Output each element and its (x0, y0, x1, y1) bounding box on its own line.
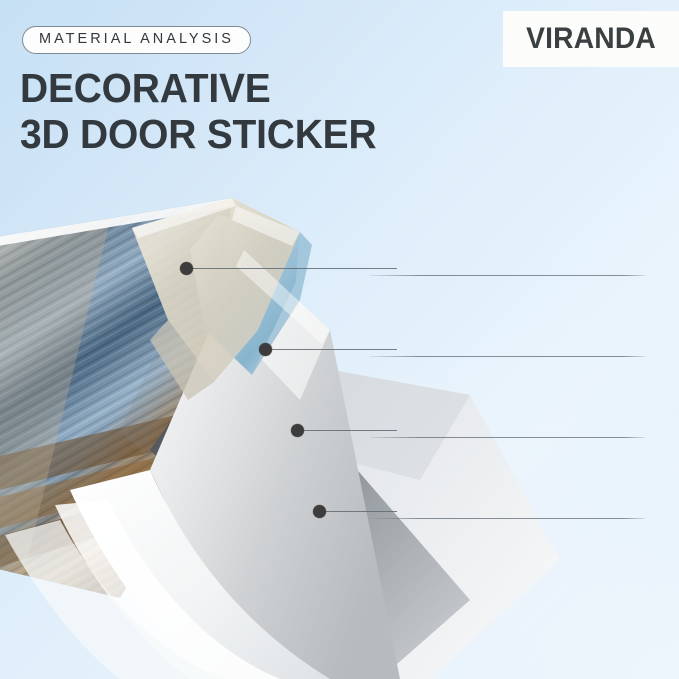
callout-3-rule (370, 437, 645, 438)
callout-2-rule (370, 356, 645, 357)
callout-1-rule (370, 275, 645, 276)
callout-4-rule (370, 518, 645, 519)
callout-4-dot (313, 505, 326, 518)
callout-2-leader (271, 349, 397, 350)
callout-3-leader (303, 430, 397, 431)
eyebrow-badge: MATERIAL ANALYSIS (22, 26, 251, 54)
callout-4-leader (325, 511, 397, 512)
callout-3-dot (291, 424, 304, 437)
callout-1-leader (192, 268, 397, 269)
callout-2-dot (259, 343, 272, 356)
poster: MATERIAL ANALYSIS DECORATIVE 3D DOOR STI… (0, 0, 679, 679)
page-title-line-1: DECORATIVE (20, 68, 376, 108)
brand-logo-text: VIRANDA (526, 22, 656, 56)
page-title: DECORATIVE 3D DOOR STICKER (20, 68, 376, 154)
callout-1-dot (180, 262, 193, 275)
page-title-line-2: 3D DOOR STICKER (20, 114, 376, 154)
brand-logo: VIRANDA (503, 11, 679, 67)
